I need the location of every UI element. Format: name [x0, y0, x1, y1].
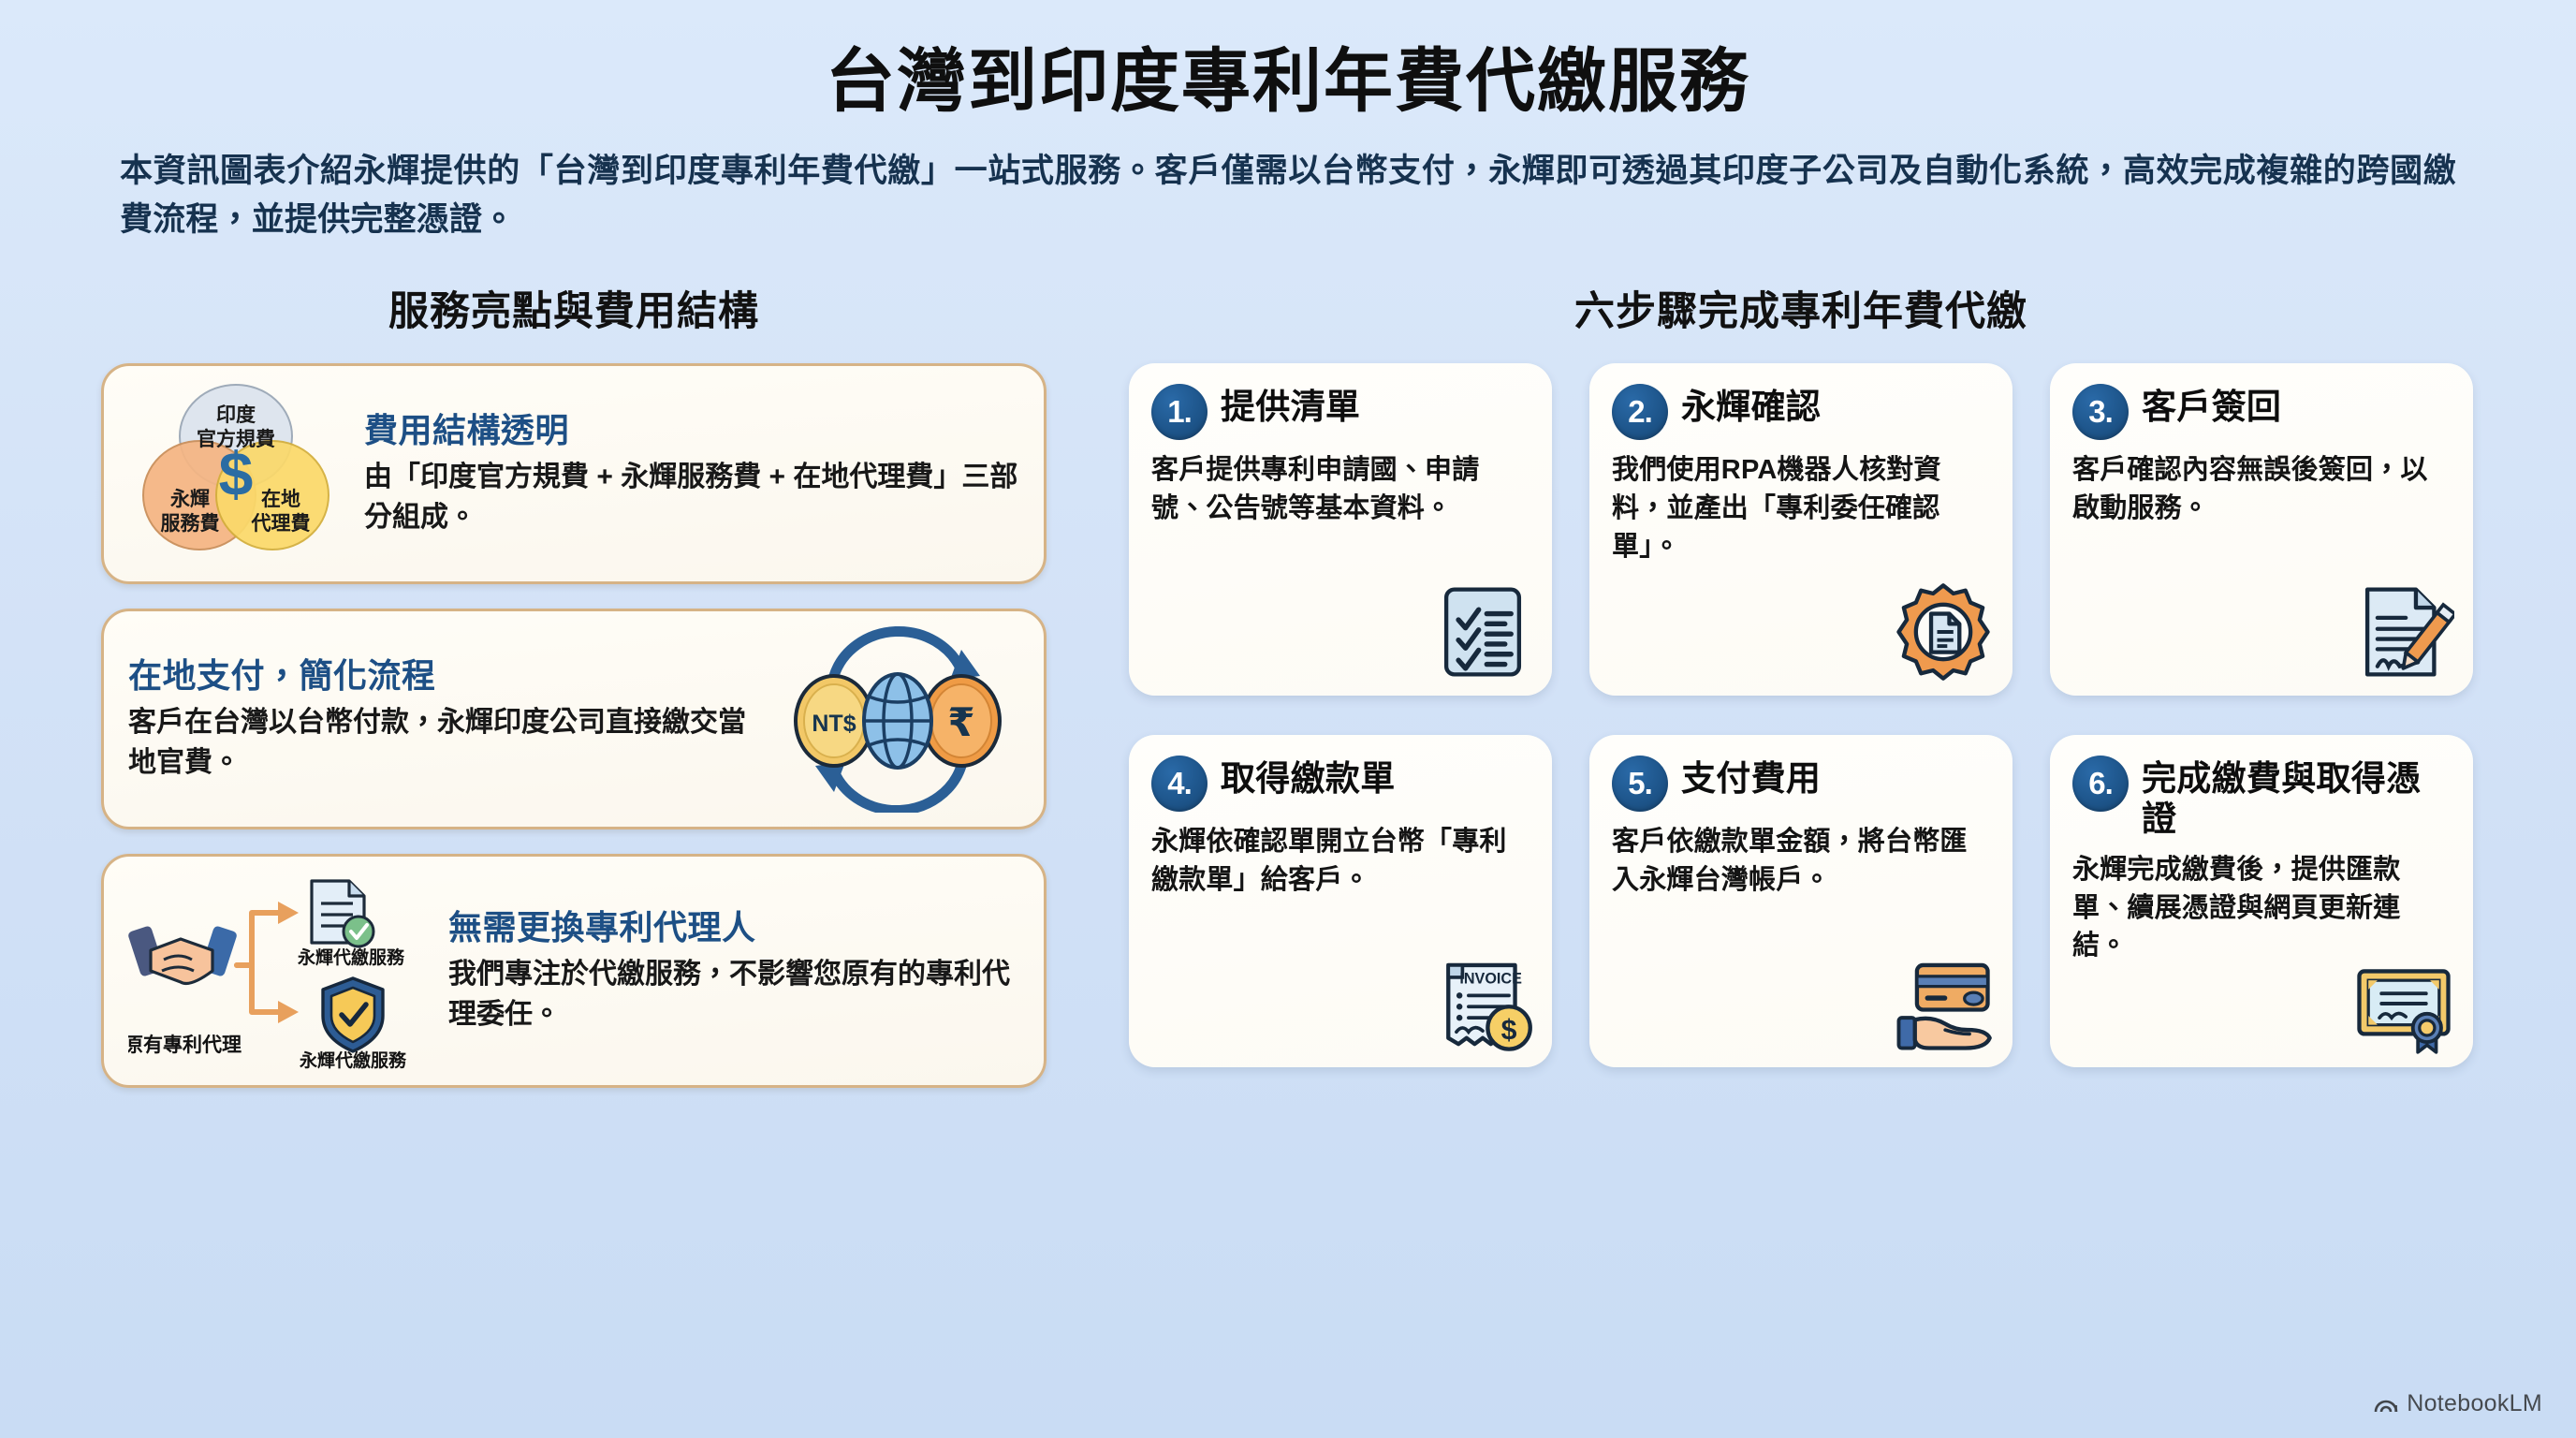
- step-description: 客戶提供專利申請國、申請號、公告號等基本資料。: [1151, 451, 1529, 527]
- step-title: 完成繳費與取得憑證: [2142, 756, 2451, 840]
- step-number-badge: 3.: [2072, 384, 2129, 440]
- svg-text:NT$: NT$: [812, 711, 856, 737]
- svg-text:$: $: [219, 439, 254, 508]
- features-section: 服務亮點與費用結構 印度 官方規費 永輝 服務費 在地 代理費 $ 費用結構透: [101, 279, 1046, 1088]
- step-card-5: 5. 支付費用 客戶依繳款單金額，將台幣匯入永輝台灣帳戶。: [1589, 735, 2012, 1067]
- svg-text:服務費: 服務費: [161, 512, 220, 535]
- svg-text:永輝代繳服務: 永輝代繳服務: [297, 946, 405, 968]
- step-number-badge: 1.: [1151, 384, 1207, 440]
- signed-document-icon: [2353, 581, 2454, 682]
- checklist-icon: [1432, 581, 1533, 682]
- step-card-6: 6. 完成繳費與取得憑證 永輝完成繳費後，提供匯款單、續展憑證與網頁更新連結。: [2050, 735, 2473, 1067]
- step-number-badge: 5.: [1612, 756, 1668, 812]
- step-header: 5. 支付費用: [1612, 756, 1990, 812]
- steps-section-heading: 六步驟完成專利年費代繳: [1129, 279, 2473, 337]
- feature-title: 無需更換專利代理人: [448, 907, 1019, 947]
- feature-description: 我們專注於代繳服務，不影響您原有的專利代理委任。: [448, 955, 1019, 1034]
- gear-document-icon: [1893, 581, 1994, 682]
- feature-description: 客戶在台灣以台幣付款，永輝印度公司直接繳交當地官費。: [128, 703, 761, 783]
- step-card-3: 3. 客戶簽回 客戶確認內容無誤後簽回，以啟動服務。: [2050, 363, 2473, 696]
- notebooklm-watermark: NotebookLM: [2374, 1390, 2542, 1417]
- currency-exchange-icon: NT$ ₹: [776, 625, 1019, 813]
- feature-text-block: 費用結構透明 由「印度官方規費 + 永輝服務費 + 在地代理費」三部分組成。: [364, 410, 1019, 537]
- hand-card-icon: [1893, 953, 1994, 1054]
- agent-unchanged-icon: 原有專利代理 永輝代繳: [128, 872, 428, 1070]
- svg-text:₹: ₹: [947, 699, 974, 745]
- step-description: 我們使用RPA機器人核對資料，並產出「專利委任確認單」。: [1612, 451, 1990, 565]
- step-header: 1. 提供清單: [1151, 384, 1529, 440]
- step-title: 客戶簽回: [2142, 384, 2281, 428]
- step-number-badge: 2.: [1612, 384, 1668, 440]
- step-card-2: 2. 永輝確認 我們使用RPA機器人核對資料，並產出「專利委任確認單」。: [1589, 363, 2012, 696]
- content-area: 服務亮點與費用結構 印度 官方規費 永輝 服務費 在地 代理費 $ 費用結構透: [0, 279, 2576, 1088]
- step-description: 永輝完成繳費後，提供匯款單、續展憑證與網頁更新連結。: [2072, 851, 2451, 965]
- svg-text:在地: 在地: [261, 488, 300, 510]
- feature-card-local-payment: 在地支付，簡化流程 客戶在台灣以台幣付款，永輝印度公司直接繳交當地官費。 NT$…: [101, 609, 1046, 829]
- feature-title: 費用結構透明: [364, 410, 1019, 450]
- svg-text:永輝代繳服務: 永輝代繳服務: [299, 1049, 407, 1070]
- step-header: 3. 客戶簽回: [2072, 384, 2451, 440]
- step-title: 支付費用: [1681, 756, 1821, 800]
- feature-text-block: 無需更換專利代理人 我們專注於代繳服務，不影響您原有的專利代理委任。: [448, 907, 1019, 1034]
- step-description: 永輝依確認單開立台幣「專利繳款單」給客戶。: [1151, 823, 1529, 899]
- svg-text:永輝: 永輝: [169, 489, 210, 510]
- svg-text:代理費: 代理費: [251, 513, 311, 535]
- step-card-4: 4. 取得繳款單 永輝依確認單開立台幣「專利繳款單」給客戶。 INVOICE: [1129, 735, 1552, 1067]
- step-title: 提供清單: [1221, 384, 1360, 428]
- feature-title: 在地支付，簡化流程: [128, 655, 761, 696]
- step-header: 4. 取得繳款單: [1151, 756, 1529, 812]
- svg-text:INVOICE: INVOICE: [1459, 971, 1522, 988]
- step-number-badge: 6.: [2072, 756, 2129, 812]
- svg-text:印度: 印度: [216, 404, 256, 426]
- feature-card-keep-agent: 原有專利代理 永輝代繳: [101, 854, 1046, 1088]
- page-title: 台灣到印度專利年費代繳服務: [0, 43, 2576, 121]
- invoice-coin-icon: INVOICE $: [1432, 953, 1533, 1054]
- steps-section: 六步驟完成專利年費代繳 1. 提供清單 客戶提供專利申請國、申請號、公告號等基本…: [1129, 279, 2473, 1088]
- step-card-1: 1. 提供清單 客戶提供專利申請國、申請號、公告號等基本資料。: [1129, 363, 1552, 696]
- page-header: 台灣到印度專利年費代繳服務 本資訊圖表介紹永輝提供的「台灣到印度專利年費代繳」一…: [0, 0, 2576, 243]
- intro-paragraph: 本資訊圖表介紹永輝提供的「台灣到印度專利年費代繳」一站式服務。客戶僅需以台幣支付…: [120, 147, 2456, 244]
- features-section-heading: 服務亮點與費用結構: [101, 279, 1046, 337]
- feature-card-fee-structure: 印度 官方規費 永輝 服務費 在地 代理費 $ 費用結構透明 由「印度官方規費 …: [101, 363, 1046, 584]
- certificate-icon: [2353, 953, 2454, 1054]
- venn-fee-structure-icon: 印度 官方規費 永輝 服務費 在地 代理費 $: [128, 378, 344, 570]
- step-title: 永輝確認: [1681, 384, 1821, 428]
- svg-text:$: $: [1501, 1015, 1517, 1046]
- step-title: 取得繳款單: [1221, 756, 1396, 800]
- steps-grid: 1. 提供清單 客戶提供專利申請國、申請號、公告號等基本資料。: [1129, 363, 2473, 1067]
- watermark-label: NotebookLM: [2407, 1390, 2542, 1417]
- feature-text-block: 在地支付，簡化流程 客戶在台灣以台幣付款，永輝印度公司直接繳交當地官費。: [128, 655, 761, 783]
- notebooklm-icon: [2374, 1392, 2398, 1416]
- feature-description: 由「印度官方規費 + 永輝服務費 + 在地代理費」三部分組成。: [364, 458, 1019, 537]
- step-description: 客戶確認內容無誤後簽回，以啟動服務。: [2072, 451, 2451, 527]
- step-header: 6. 完成繳費與取得憑證: [2072, 756, 2451, 840]
- step-number-badge: 4.: [1151, 756, 1207, 812]
- step-description: 客戶依繳款單金額，將台幣匯入永輝台灣帳戶。: [1612, 823, 1990, 899]
- svg-text:原有專利代理: 原有專利代理: [128, 1034, 241, 1056]
- step-header: 2. 永輝確認: [1612, 384, 1990, 440]
